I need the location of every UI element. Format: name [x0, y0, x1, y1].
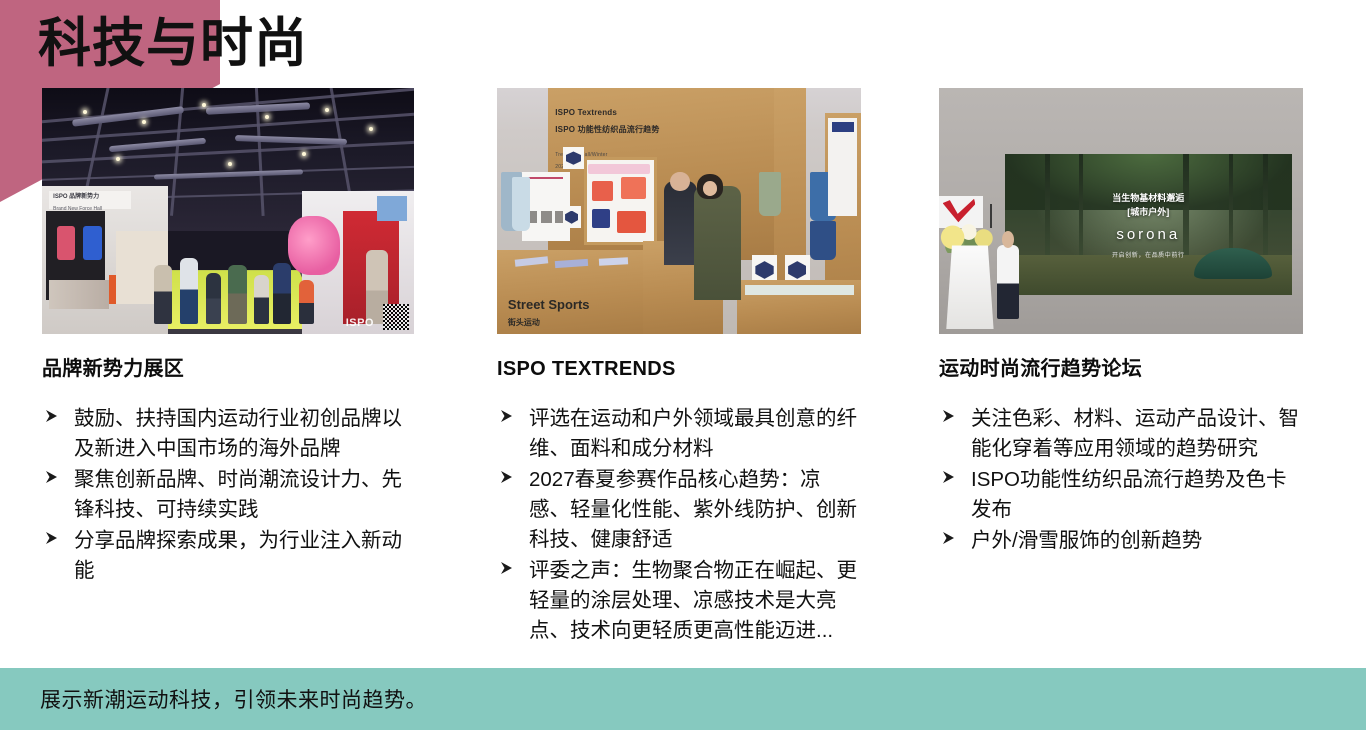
bullet-text: 聚焦创新品牌、时尚潮流设计力、先锋科技、可持续实践 — [74, 468, 402, 521]
photo-forum-stage: 当生物基材料邂逅 [城市户外] sorona 开启创新，在品质中前行 — [939, 88, 1303, 334]
slide-root: 科技与时尚 — [0, 0, 1366, 730]
photo1-qr-code — [383, 304, 409, 330]
photo1-booth-sign-sub: Brand New Force Hall — [53, 206, 102, 213]
bullet-text: ISPO功能性纺织品流行趋势及色卡发布 — [971, 468, 1287, 521]
bullet-item: 鼓励、扶持国内运动行业初创品牌以及新进入中国市场的海外品牌 — [42, 404, 414, 464]
photo2-street-sports-label: Street Sports — [508, 297, 590, 312]
footer-band: 展示新潮运动科技，引领未来时尚趋势。 — [0, 668, 1366, 730]
column-heading-1: ISPO TEXTRENDS — [497, 356, 861, 382]
bullet-text: 评选在运动和户外领域最具创意的纤维、面料和成分材料 — [529, 407, 857, 460]
photo-exhibition-hall: ISPO 品牌新势力 Brand New Force Hall — [42, 88, 414, 334]
bullet-item: 聚焦创新品牌、时尚潮流设计力、先锋科技、可持续实践 — [42, 465, 414, 525]
photo-textrends-booth: ISPO Textrends ISPO 功能性纺织品流行趋势 Trends fo… — [497, 88, 861, 334]
arrowhead-bullet-icon — [941, 469, 959, 489]
bullet-text: 评委之声：生物聚合物正在崛起、更轻量的涂层处理、凉感技术是大亮点、技术向更轻质更… — [529, 559, 857, 642]
column-ispo-textrends: ISPO Textrends ISPO 功能性纺织品流行趋势 Trends fo… — [497, 88, 861, 647]
bullet-text: 户外/滑雪服饰的创新趋势 — [971, 529, 1202, 552]
photo3-screen-title: 当生物基材料邂逅 [城市户外] — [1005, 191, 1293, 219]
photo2-sign-line2: ISPO 功能性纺织品流行趋势 — [555, 125, 659, 135]
photo3-screen-title-line1: 当生物基材料邂逅 — [1005, 191, 1293, 205]
arrowhead-bullet-icon — [499, 560, 517, 580]
bullet-item: 关注色彩、材料、运动产品设计、智能化穿着等应用领域的趋势研究 — [939, 404, 1303, 464]
photo1-booth-sign: ISPO 品牌新势力 — [53, 194, 99, 201]
photo3-speaker-head — [1002, 231, 1014, 248]
bullet-item: 2027春夏参赛作品核心趋势：凉感、轻量化性能、紫外线防护、创新科技、健康舒适 — [497, 465, 861, 555]
photo1-watermark: ISPO — [346, 317, 374, 329]
photo3-speaker — [997, 245, 1019, 319]
arrowhead-bullet-icon — [44, 469, 62, 489]
bullet-text: 关注色彩、材料、运动产品设计、智能化穿着等应用领域的趋势研究 — [971, 407, 1299, 460]
bullet-text: 分享品牌探索成果，为行业注入新动能 — [74, 529, 402, 582]
column-trend-forum: 当生物基材料邂逅 [城市户外] sorona 开启创新，在品质中前行 运动 — [939, 88, 1303, 557]
photo3-podium — [946, 245, 993, 329]
arrowhead-bullet-icon — [44, 408, 62, 428]
bullet-list-1: 评选在运动和户外领域最具创意的纤维、面料和成分材料 2027春夏参赛作品核心趋势… — [497, 404, 861, 646]
arrowhead-bullet-icon — [941, 408, 959, 428]
page-title: 科技与时尚 — [38, 12, 308, 76]
arrowhead-bullet-icon — [499, 469, 517, 489]
photo3-led-screen: 当生物基材料邂逅 [城市户外] sorona 开启创新，在品质中前行 — [1005, 154, 1293, 294]
arrowhead-bullet-icon — [941, 530, 959, 550]
photo3-screen-title-line2: [城市户外] — [1005, 205, 1293, 219]
arrowhead-bullet-icon — [499, 408, 517, 428]
bullet-list-2: 关注色彩、材料、运动产品设计、智能化穿着等应用领域的趋势研究 ISPO功能性纺织… — [939, 404, 1303, 556]
bullet-item: 分享品牌探索成果，为行业注入新动能 — [42, 526, 414, 586]
content-columns: ISPO 品牌新势力 Brand New Force Hall — [0, 88, 1366, 668]
photo3-screen-subtitle: 开启创新，在品质中前行 — [1005, 250, 1293, 259]
arrowhead-bullet-icon — [44, 530, 62, 550]
bullet-list-0: 鼓励、扶持国内运动行业初创品牌以及新进入中国市场的海外品牌 聚焦创新品牌、时尚潮… — [42, 404, 414, 586]
photo3-sorona-logo: sorona — [1005, 226, 1293, 243]
column-heading-2: 运动时尚流行趋势论坛 — [939, 356, 1303, 382]
photo2-street-sports-cn: 街头运动 — [508, 317, 540, 328]
bullet-item: 评选在运动和户外领域最具创意的纤维、面料和成分材料 — [497, 404, 861, 464]
bullet-item: ISPO功能性纺织品流行趋势及色卡发布 — [939, 465, 1303, 525]
bullet-text: 鼓励、扶持国内运动行业初创品牌以及新进入中国市场的海外品牌 — [74, 407, 402, 460]
column-heading-0: 品牌新势力展区 — [42, 356, 414, 382]
bullet-item: 户外/滑雪服饰的创新趋势 — [939, 526, 1303, 556]
bullet-item: 评委之声：生物聚合物正在崛起、更轻量的涂层处理、凉感技术是大亮点、技术向更轻质更… — [497, 556, 861, 646]
column-brand-new-force: ISPO 品牌新势力 Brand New Force Hall — [42, 88, 414, 587]
bullet-text: 2027春夏参赛作品核心趋势：凉感、轻量化性能、紫外线防护、创新科技、健康舒适 — [529, 468, 857, 551]
photo2-sign-line1: ISPO Textrends — [555, 108, 617, 118]
footer-text: 展示新潮运动科技，引领未来时尚趋势。 — [40, 684, 427, 714]
